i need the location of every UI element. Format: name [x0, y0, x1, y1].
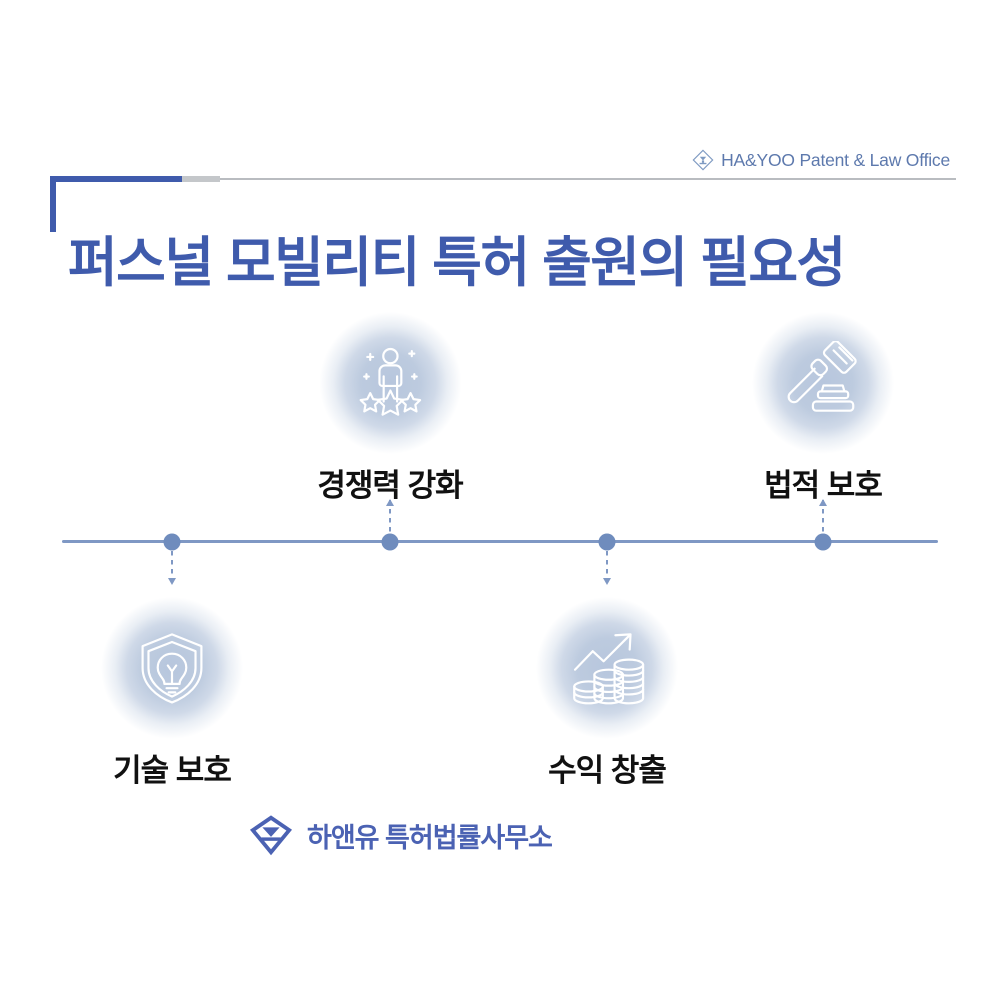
shield-lightbulb-icon: [130, 626, 214, 710]
title-rule-accent-segment: [50, 176, 182, 182]
footer-brand-name: 하앤유 특허법률사무소: [307, 816, 552, 855]
timeline-item-competitiveness[interactable]: 경쟁력 강화: [317, 312, 462, 505]
timeline-item-tech-protection[interactable]: 기술 보호: [101, 597, 243, 790]
connector-arrowhead-icon: [603, 578, 611, 585]
timeline-node-dot[interactable]: [815, 534, 832, 551]
connector-arrowhead-icon: [168, 578, 176, 585]
title-rule-thin-line: [220, 178, 956, 180]
timeline-connector-down: [171, 551, 173, 584]
timeline-item-label: 기술 보호: [101, 745, 243, 790]
page-title: 퍼스널 모빌리티 특허 출원의 필요성: [68, 232, 845, 294]
timeline-node-dot[interactable]: [599, 534, 616, 551]
icon-blob: [536, 597, 678, 739]
footer-brand: 하앤유 특허법률사무소: [248, 812, 552, 858]
coins-growth-arrow-icon: [565, 626, 649, 710]
hayoo-diamond-logo-icon: [248, 812, 294, 858]
title-rule-gray-segment: [182, 176, 220, 182]
title-rule: [50, 176, 956, 182]
icon-blob: [319, 312, 461, 454]
gavel-icon: [781, 341, 865, 425]
person-three-stars-icon: [348, 341, 432, 425]
slide-canvas: HA&YOO Patent & Law Office 퍼스널 모빌리티 특허 출…: [0, 0, 1000, 1000]
timeline-item-label: 경쟁력 강화: [317, 460, 462, 505]
title-bracket-vertical: [50, 176, 56, 232]
header-brand: HA&YOO Patent & Law Office: [692, 148, 950, 172]
icon-blob: [752, 312, 894, 454]
timeline-item-label: 법적 보호: [752, 460, 894, 505]
timeline-item-revenue[interactable]: 수익 창출: [536, 597, 678, 790]
icon-blob: [101, 597, 243, 739]
timeline-axis: [62, 540, 938, 543]
hayoo-diamond-logo-icon: [692, 149, 714, 171]
timeline-item-legal-protection[interactable]: 법적 보호: [752, 312, 894, 505]
timeline-item-label: 수익 창출: [536, 745, 678, 790]
timeline-connector-down: [606, 551, 608, 584]
timeline-node-dot[interactable]: [164, 534, 181, 551]
header-brand-name: HA&YOO Patent & Law Office: [721, 150, 950, 171]
timeline-node-dot[interactable]: [382, 534, 399, 551]
